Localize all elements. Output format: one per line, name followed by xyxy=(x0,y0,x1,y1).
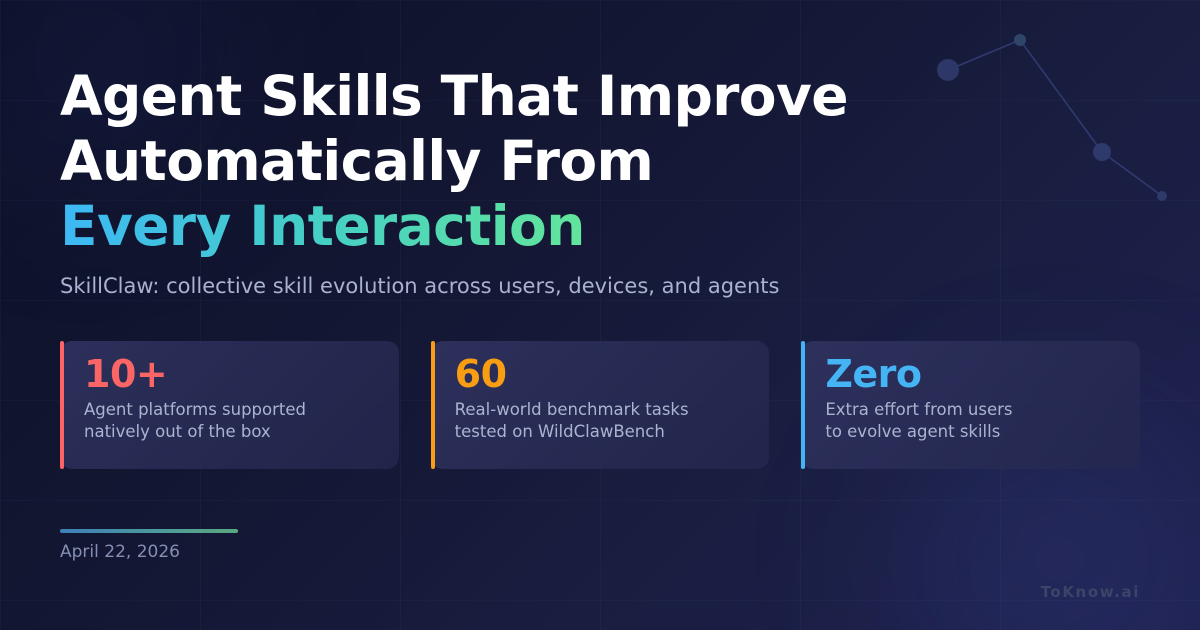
stat-card-effort: Zero Extra effort from users to evolve a… xyxy=(801,341,1140,469)
stat-card-platforms: 10+ Agent platforms supported natively o… xyxy=(60,341,399,469)
stat-accent-bar xyxy=(60,341,64,469)
brand-wordmark: ToKnow.ai xyxy=(1041,583,1140,601)
stat-label: Extra effort from users to evolve agent … xyxy=(825,399,1122,445)
footer-divider xyxy=(60,529,238,533)
headline-line-2: Automatically From xyxy=(60,129,653,193)
subtitle: SkillClaw: collective skill evolution ac… xyxy=(60,272,1040,300)
page-title: Agent Skills That Improve Automatically … xyxy=(60,64,1020,260)
stat-accent-bar xyxy=(801,341,805,469)
stat-label: Real-world benchmark tasks tested on Wil… xyxy=(455,399,752,445)
stat-label: Agent platforms supported natively out o… xyxy=(84,399,381,445)
stats-row: 10+ Agent platforms supported natively o… xyxy=(60,341,1140,469)
headline-line-1: Agent Skills That Improve xyxy=(60,64,848,128)
content-area: Agent Skills That Improve Automatically … xyxy=(60,0,1140,630)
publish-date: April 22, 2026 xyxy=(60,542,180,562)
stat-value: 10+ xyxy=(84,355,381,395)
stat-value: 60 xyxy=(455,355,752,395)
stat-value: Zero xyxy=(825,355,1122,395)
stat-card-benchmark: 60 Real-world benchmark tasks tested on … xyxy=(431,341,770,469)
stat-accent-bar xyxy=(431,341,435,469)
poster-canvas: Agent Skills That Improve Automatically … xyxy=(0,0,1200,630)
headline-line-3-accent: Every Interaction xyxy=(60,194,585,258)
